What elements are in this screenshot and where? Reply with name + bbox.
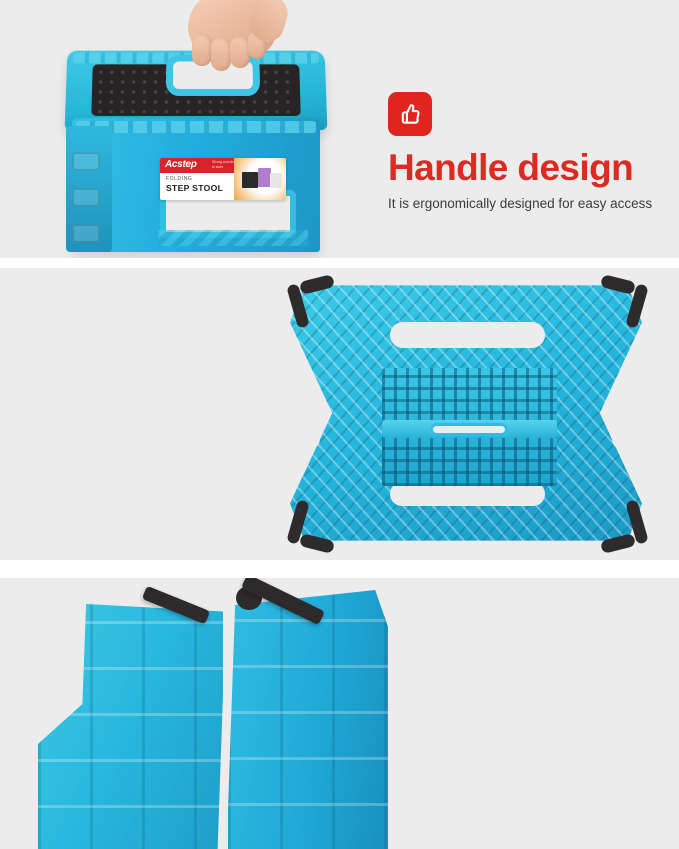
feature-subline: It is ergonomically designed for easy ac… bbox=[388, 194, 652, 214]
photo-stool-legs-with-rubber-pads bbox=[0, 578, 372, 849]
underside-slot bbox=[390, 322, 545, 348]
leg-rib-texture bbox=[228, 590, 388, 849]
leg-rib-texture bbox=[38, 604, 223, 849]
feature-section-non-slip-bottom: Non-slip bottom It is not easy to slip a… bbox=[0, 578, 679, 849]
underside-slot bbox=[298, 388, 320, 450]
body-edge-ribs bbox=[76, 121, 316, 133]
label-line-1: FOLDING bbox=[166, 176, 192, 182]
leg-notch bbox=[72, 224, 100, 243]
feature-section-thickened-design: Thickened design More stable and tough, … bbox=[0, 268, 679, 560]
thumbnail-stool bbox=[242, 172, 258, 188]
feature-section-handle-design: Acstep Strong and durable Easy to store … bbox=[0, 0, 679, 258]
underside-slot bbox=[612, 388, 634, 450]
thumbnail-stool bbox=[270, 173, 282, 188]
label-product-thumbnail bbox=[234, 158, 286, 200]
leg-notch bbox=[72, 188, 100, 207]
hand-gripping-handle bbox=[178, 0, 282, 75]
photo-backdrop: Acstep Strong and durable Easy to store … bbox=[0, 0, 372, 258]
label-brand-name: Acstep bbox=[165, 159, 197, 170]
product-feature-sheet: Acstep Strong and durable Easy to store … bbox=[0, 0, 679, 849]
photo-folded-step-stool-held-by-hand: Acstep Strong and durable Easy to store … bbox=[0, 0, 372, 258]
photo-backdrop bbox=[0, 578, 372, 849]
product-packaging-label: Acstep Strong and durable Easy to store … bbox=[160, 158, 286, 200]
photo-stool-underside-reinforced-ribbing bbox=[256, 268, 679, 560]
photo-backdrop bbox=[256, 268, 679, 560]
stool-leg-rear bbox=[228, 590, 388, 849]
leg-notch bbox=[72, 152, 100, 171]
finger bbox=[230, 37, 250, 68]
feature-headline: Handle design bbox=[388, 149, 652, 188]
label-line-2: STEP STOOL bbox=[166, 183, 223, 193]
finger bbox=[211, 38, 231, 71]
finger bbox=[192, 34, 212, 66]
stool-underside bbox=[290, 280, 642, 546]
center-handle-cutout bbox=[430, 423, 508, 436]
feature-text-handle-design: Handle design It is ergonomically design… bbox=[388, 92, 652, 213]
thumbs-up-icon bbox=[388, 92, 432, 136]
folded-leg-panel bbox=[66, 126, 112, 252]
zigzag-texture bbox=[158, 230, 308, 246]
stool-leg-front bbox=[38, 604, 223, 849]
